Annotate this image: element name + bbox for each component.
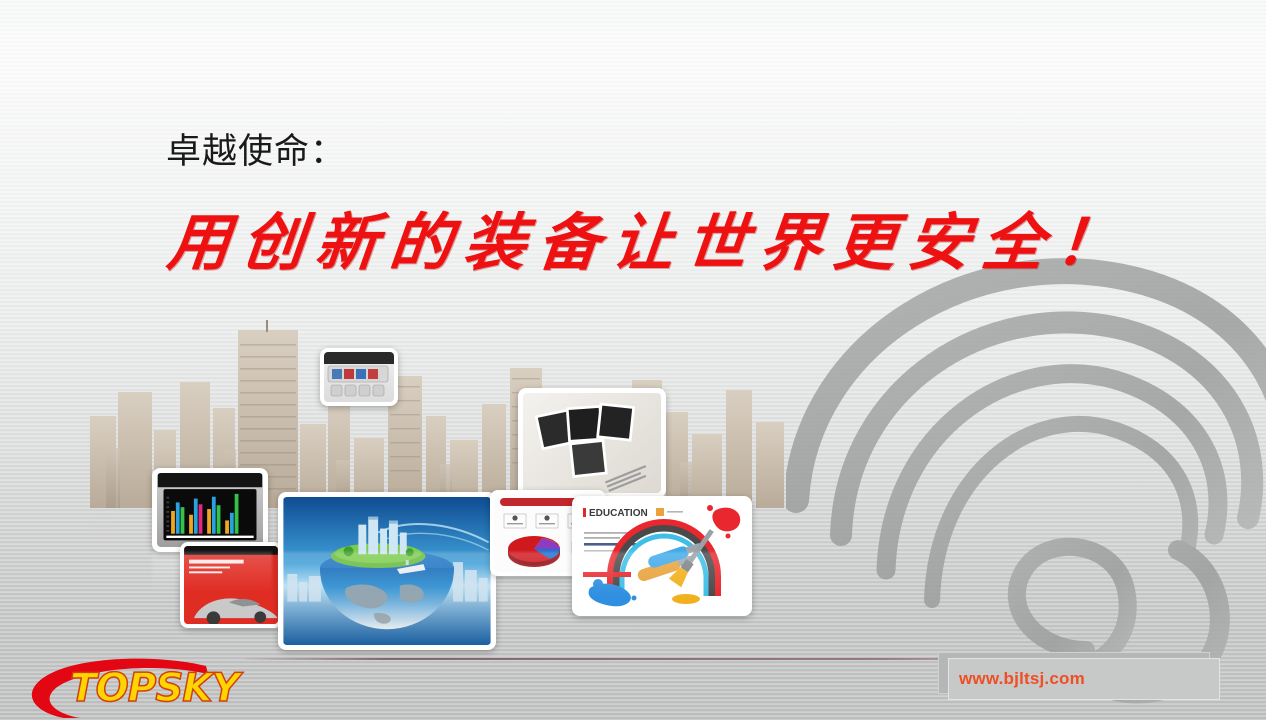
mission-slogan: 用创新的装备让世界更安全！ [163,200,1072,286]
red-car-brochure-card[interactable] [180,542,282,628]
mission-label: 卓越使命： [166,123,346,174]
green-earth-globe-card[interactable] [278,492,496,650]
logo-wordmark: TOPSKY [70,666,239,711]
bottom-divider [245,658,1035,660]
bar-chart-monitor-card[interactable] [152,468,268,552]
image-collage: EDUCATION [0,300,800,680]
spiral-swoosh-watermark-icon [786,250,1266,720]
education-card-title: EDUCATION [589,508,648,519]
control-device-card[interactable] [320,348,398,406]
website-url-plate[interactable]: www.bjltsj.com [948,658,1220,700]
topsky-logo[interactable]: TOPSKY [18,658,230,718]
presentation-slide: 卓越使命： 用创新的装备让世界更安全！ [0,0,1266,720]
website-url-text[interactable]: www.bjltsj.com [959,669,1085,689]
photo-collage-card[interactable] [518,388,666,498]
education-paint-card[interactable]: EDUCATION [572,496,752,616]
